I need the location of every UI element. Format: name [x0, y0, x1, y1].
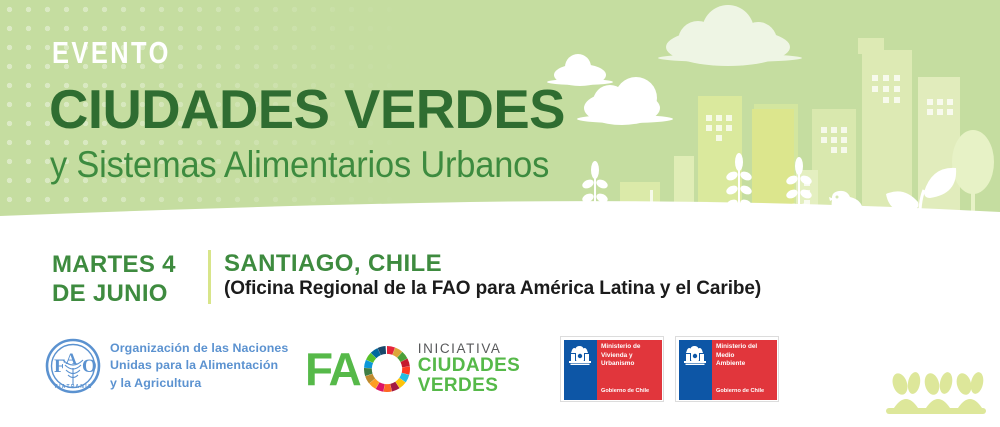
cloud-icon	[632, 5, 832, 75]
sdg-color-wheel-icon	[364, 346, 410, 392]
green-cities-line3: VERDES	[418, 376, 520, 396]
green-cities-text: INICIATIVA CIUDADES VERDES	[418, 342, 520, 397]
event-city: SANTIAGO, CHILE	[224, 250, 442, 278]
chile-coat-of-arms-icon	[682, 345, 708, 367]
ministry-government-label: Gobierno de Chile	[601, 388, 661, 394]
ministry-vivienda-logo: Ministerio de Vivienda y Urbanismo Gobie…	[560, 336, 664, 402]
vertical-divider	[208, 250, 211, 304]
fao-emblem-icon: F A O F I A T P A N I S	[45, 338, 101, 394]
hill-curve	[0, 192, 1000, 232]
fao-un-name: Organización de las Naciones Unidas para…	[110, 340, 288, 391]
event-date-line2: DE JUNIO	[52, 279, 176, 308]
event-date-line1: MARTES 4	[52, 250, 176, 279]
ministry-name: Ministerio de Vivienda y Urbanismo	[601, 343, 661, 369]
page-title: CIUDADES VERDES	[49, 82, 565, 137]
fao-green-cities-logo: FA	[305, 342, 520, 397]
fao-motto: F I A T P A N I S	[55, 384, 92, 390]
chile-coat-of-arms-icon	[567, 345, 593, 367]
ministry-name: Ministerio del Medio Ambiente	[716, 343, 776, 369]
ministry-medio-ambiente-logo: Ministerio del Medio Ambiente Gobierno d…	[675, 336, 779, 402]
page-subtitle: y Sistemas Alimentarios Urbanos	[50, 145, 549, 186]
fao-wordmark: FA	[305, 346, 360, 392]
logo-row: F A O F I A T P A N I S Organización de …	[0, 330, 1000, 420]
svg-text:F: F	[54, 356, 66, 377]
event-kicker: EVENTO	[52, 35, 171, 71]
fao-un-logo: F A O F I A T P A N I S Organización de …	[45, 338, 288, 394]
building-top	[858, 38, 884, 54]
green-cities-line2: CIUDADES	[418, 356, 520, 376]
event-info-band: MARTES 4 DE JUNIO SANTIAGO, CHILE (Ofici…	[0, 240, 1000, 312]
hero-section: EVENTO CIUDADES VERDES y Sistemas Alimen…	[0, 0, 1000, 232]
svg-text:O: O	[82, 356, 97, 377]
planter-plants-decoration	[880, 370, 990, 418]
event-banner: EVENTO CIUDADES VERDES y Sistemas Alimen…	[0, 0, 1000, 427]
event-date: MARTES 4 DE JUNIO	[52, 250, 176, 309]
ministry-government-label: Gobierno de Chile	[716, 388, 776, 394]
green-cities-line1: INICIATIVA	[418, 342, 520, 356]
event-venue: (Oficina Regional de la FAO para América…	[224, 278, 761, 300]
